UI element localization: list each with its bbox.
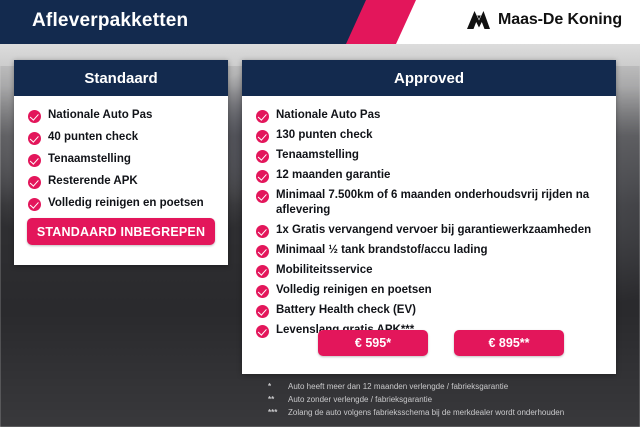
feature-label: Resterende APK xyxy=(48,174,138,189)
list-item: 1x Gratis vervangend vervoer bij garanti… xyxy=(256,223,616,238)
feature-label: Mobiliteitsservice xyxy=(276,263,373,278)
list-item: Mobiliteitsservice xyxy=(256,263,616,278)
check-circle-icon xyxy=(256,245,269,258)
footnote-mark: ** xyxy=(268,394,282,405)
footnote-text: Auto heeft meer dan 12 maanden verlengde… xyxy=(288,381,508,392)
check-circle-icon xyxy=(28,154,41,167)
brand-name: Maas-De Koning xyxy=(498,11,622,29)
footnote: * Auto heeft meer dan 12 maanden verleng… xyxy=(268,381,628,392)
check-circle-icon xyxy=(256,110,269,123)
footnote: ** Auto zonder verlengde / fabrieksgaran… xyxy=(268,394,628,405)
feature-label: Tenaamstelling xyxy=(48,152,131,167)
check-circle-icon xyxy=(256,150,269,163)
list-item: 40 punten check xyxy=(28,130,228,145)
brand-logo: Maas-De Koning xyxy=(466,9,622,31)
list-item: Tenaamstelling xyxy=(256,148,616,163)
check-circle-icon xyxy=(28,110,41,123)
feature-label: 130 punten check xyxy=(276,128,373,143)
list-item: Volledig reinigen en poetsen xyxy=(28,196,228,211)
feature-label: 12 maanden garantie xyxy=(276,168,390,183)
check-circle-icon xyxy=(256,130,269,143)
price-button-895[interactable]: € 895** xyxy=(454,330,564,356)
footnote-text: Auto zonder verlengde / fabrieksgarantie xyxy=(288,394,432,405)
footnote-mark: * xyxy=(268,381,282,392)
feature-label: Volledig reinigen en poetsen xyxy=(48,196,204,211)
check-circle-icon xyxy=(256,170,269,183)
list-item: Nationale Auto Pas xyxy=(256,108,616,123)
check-circle-icon xyxy=(256,225,269,238)
list-item: Tenaamstelling xyxy=(28,152,228,167)
list-item: Minimaal ½ tank brandstof/accu lading xyxy=(256,243,616,258)
list-item: Battery Health check (EV) xyxy=(256,303,616,318)
feature-list-standaard: Nationale Auto Pas 40 punten check Tenaa… xyxy=(14,96,228,211)
feature-label: Minimaal ½ tank brandstof/accu lading xyxy=(276,243,488,258)
check-circle-icon xyxy=(28,132,41,145)
price-button-595[interactable]: € 595* xyxy=(318,330,428,356)
feature-label: 40 punten check xyxy=(48,130,138,145)
list-item: 130 punten check xyxy=(256,128,616,143)
feature-list-approved: Nationale Auto Pas 130 punten check Tena… xyxy=(242,96,616,338)
footnote-text: Zolang de auto volgens fabrieksschema bi… xyxy=(288,407,564,418)
check-circle-icon xyxy=(28,176,41,189)
footnote-mark: *** xyxy=(268,407,282,418)
check-circle-icon xyxy=(256,325,269,338)
footnote: *** Zolang de auto volgens fabrieksschem… xyxy=(268,407,628,418)
page-header: Afleverpakketten Maas-De Koning xyxy=(0,0,640,44)
price-button-row: € 595* € 895** xyxy=(318,330,564,356)
package-card-approved: Approved Nationale Auto Pas 130 punten c… xyxy=(242,60,616,374)
list-item: Nationale Auto Pas xyxy=(28,108,228,123)
list-item: Resterende APK xyxy=(28,174,228,189)
list-item: Minimaal 7.500km of 6 maanden onderhouds… xyxy=(256,188,616,218)
maas-de-koning-m-mark xyxy=(466,9,491,31)
check-circle-icon xyxy=(256,265,269,278)
list-item: Volledig reinigen en poetsen xyxy=(256,283,616,298)
check-circle-icon xyxy=(256,190,269,203)
check-circle-icon xyxy=(28,198,41,211)
check-circle-icon xyxy=(256,305,269,318)
card-heading-approved: Approved xyxy=(242,60,616,96)
feature-label: Nationale Auto Pas xyxy=(48,108,152,123)
check-circle-icon xyxy=(256,285,269,298)
list-item: 12 maanden garantie xyxy=(256,168,616,183)
feature-label: Volledig reinigen en poetsen xyxy=(276,283,432,298)
package-card-standaard: Standaard Nationale Auto Pas 40 punten c… xyxy=(14,60,228,265)
feature-label: 1x Gratis vervangend vervoer bij garanti… xyxy=(276,223,591,238)
feature-label: Battery Health check (EV) xyxy=(276,303,416,318)
standaard-inbegrepen-button[interactable]: STANDAARD INBEGREPEN xyxy=(27,218,215,245)
feature-label: Nationale Auto Pas xyxy=(276,108,380,123)
feature-label: Minimaal 7.500km of 6 maanden onderhouds… xyxy=(276,188,606,218)
feature-label: Tenaamstelling xyxy=(276,148,359,163)
footnote-block: * Auto heeft meer dan 12 maanden verleng… xyxy=(268,381,628,420)
card-heading-standaard: Standaard xyxy=(14,60,228,96)
page-title: Afleverpakketten xyxy=(32,10,188,32)
